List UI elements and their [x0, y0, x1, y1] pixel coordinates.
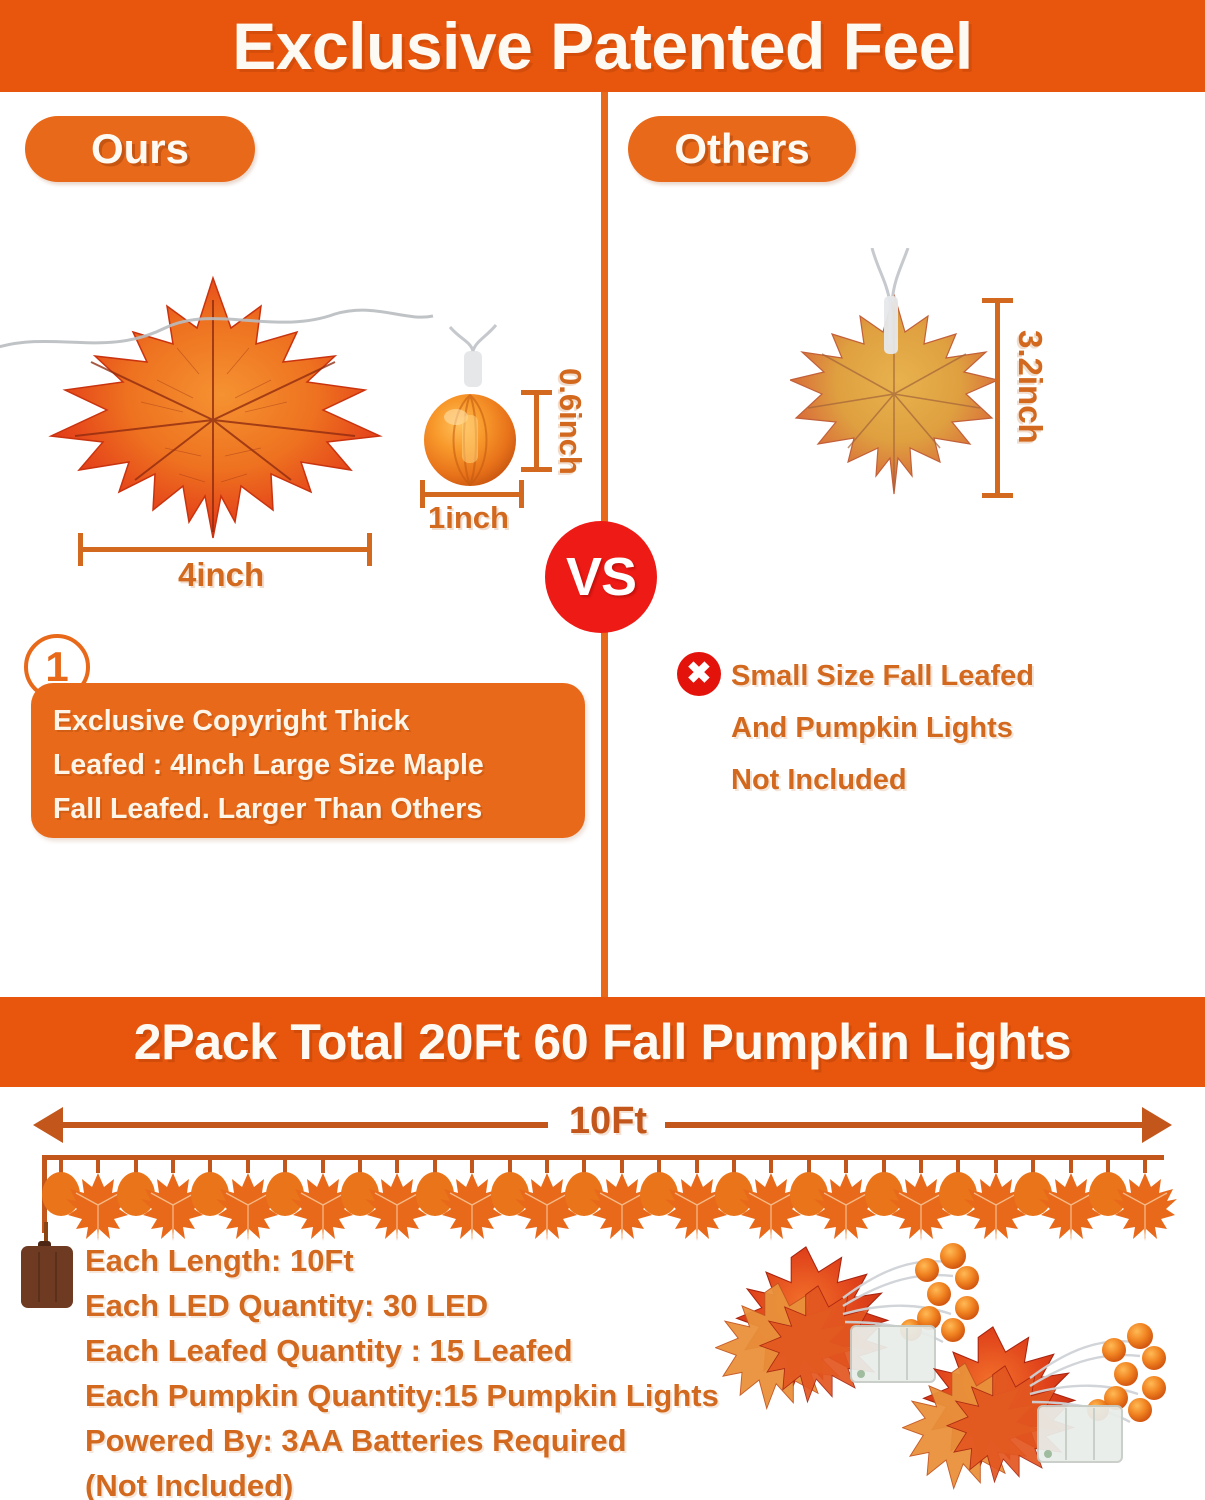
bulb-holder-icon — [446, 323, 500, 393]
node-stem — [1106, 1155, 1110, 1173]
ours-label-pill: Ours — [25, 116, 255, 182]
bottom-banner: 2Pack Total 20Ft 60 Fall Pumpkin Lights — [0, 997, 1205, 1087]
node-stem — [1031, 1155, 1035, 1173]
length-dimension-arrow: 10Ft — [0, 1100, 1205, 1152]
measure-label-4inch: 4inch — [178, 556, 264, 594]
bottom-banner-title: 2Pack Total 20Ft 60 Fall Pumpkin Lights — [134, 1013, 1072, 1071]
fall-light-bundle-icon — [902, 1298, 1202, 1498]
con-line: Not Included — [731, 754, 1201, 806]
node-stem — [882, 1155, 886, 1173]
maple-leaf-icon — [1113, 1171, 1177, 1241]
node-stem — [283, 1155, 287, 1173]
node-stem — [433, 1155, 437, 1173]
maple-leaf-icon — [1113, 1171, 1177, 1241]
spec-line: (Not Included) — [85, 1463, 885, 1500]
ours-leaf-photo — [35, 270, 395, 540]
node-stem — [134, 1155, 138, 1173]
node-stem — [657, 1155, 661, 1173]
vs-badge: VS — [545, 521, 657, 633]
measure-label-32inch: 3.2inch — [1011, 330, 1049, 444]
string-lights-diagram — [0, 1155, 1205, 1250]
spec-line: Powered By: 3AA Batteries Required — [85, 1418, 885, 1463]
arrow-right-icon — [1142, 1107, 1172, 1143]
node-stem — [956, 1155, 960, 1173]
node-stem — [508, 1155, 512, 1173]
node-stem — [582, 1155, 586, 1173]
node-stem — [358, 1155, 362, 1173]
product-infographic: Exclusive Patented Feel Ours Others — [0, 0, 1205, 1500]
feature-line: Fall Leafed. Larger Than Others — [53, 787, 567, 831]
others-label-pill: Others — [628, 116, 856, 182]
product-bundle-photo-2 — [902, 1298, 1202, 1498]
header-banner: Exclusive Patented Feel — [0, 0, 1205, 92]
measure-label-06inch: 0.6inch — [552, 368, 588, 475]
con-line: Small Size Fall Leafed — [731, 650, 1201, 702]
node-stem — [807, 1155, 811, 1173]
arrow-left-icon — [33, 1107, 63, 1143]
ours-pumpkin-photo — [418, 385, 522, 489]
pumpkin-light-icon — [418, 385, 522, 489]
led-wire — [0, 300, 435, 370]
node-stem — [732, 1155, 736, 1173]
con-line: And Pumpkin Lights — [731, 702, 1201, 754]
others-leaf-photo — [790, 288, 1000, 500]
ours-feature-card: Exclusive Copyright Thick Leafed : 4Inch… — [31, 683, 585, 838]
others-con-list: Small Size Fall Leafed And Pumpkin Light… — [731, 650, 1201, 806]
page-title: Exclusive Patented Feel — [232, 13, 973, 79]
x-mark-icon: ✖ — [677, 652, 721, 696]
string-node-leaf — [1113, 1155, 1177, 1250]
node-stem — [208, 1155, 212, 1173]
node-stem — [59, 1155, 63, 1173]
led-wire — [850, 248, 940, 358]
length-arrow-label: 10Ft — [553, 1100, 663, 1143]
feature-line: Leafed : 4Inch Large Size Maple — [53, 743, 567, 787]
measure-label-1inch: 1inch — [428, 500, 509, 536]
battery-box-icon — [21, 1246, 73, 1308]
feature-line: Exclusive Copyright Thick — [53, 699, 567, 743]
